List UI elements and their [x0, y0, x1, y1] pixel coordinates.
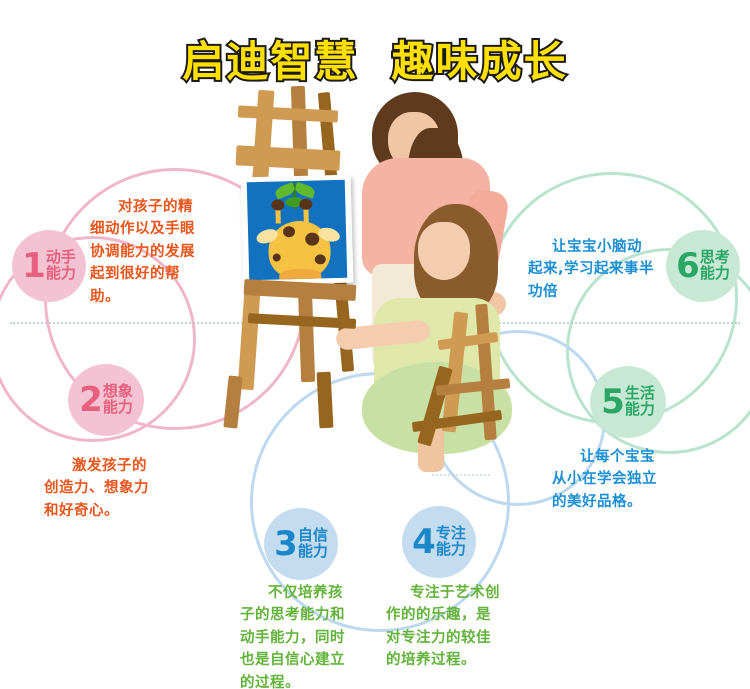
benefit-label-5: 生活 能力: [625, 386, 655, 418]
benefit-bubble-3[interactable]: 3 自信 能力: [264, 508, 338, 580]
page-title: 启迪智慧 趣味成长: [0, 28, 750, 89]
hero-photo: [222, 86, 532, 426]
benefit-description-3: 不仅培养孩 子的思考能力和 动手能力，同时 也是自信心建立 的过程。: [240, 582, 386, 689]
easel-foot-left: [223, 375, 242, 428]
benefit-label-4: 专注 能力: [436, 526, 466, 558]
benefit-label-3: 自信 能力: [298, 528, 328, 560]
dotted-line-center: [432, 474, 490, 476]
benefit-number-1: 1: [22, 251, 45, 282]
benefit-bubble-2[interactable]: 2 想象 能力: [68, 364, 144, 436]
benefit-label-1: 动手 能力: [46, 250, 76, 282]
benefit-bubble-5[interactable]: 5 生活 能力: [590, 366, 666, 438]
benefit-label-6: 思考 能力: [700, 250, 730, 282]
poster-canvas: 启迪智慧 趣味成长: [0, 0, 750, 689]
benefit-description-4: 专注于艺术创 作的的乐趣，是 对专注力的较佳 的培养过程。: [386, 582, 538, 672]
canvas-board: [241, 175, 354, 286]
benefit-number-2: 2: [79, 385, 102, 416]
benefit-bubble-1[interactable]: 1 动手 能力: [12, 230, 86, 302]
easel-foot-right: [317, 372, 334, 429]
benefit-number-5: 5: [601, 387, 624, 418]
benefit-description-1: 对孩子的精 细动作以及手眼 协调能力的发展 起到很好的帮 助。: [90, 196, 236, 308]
giraffe-muzzle: [279, 268, 321, 280]
benefit-label-2: 想象 能力: [103, 384, 133, 416]
benefit-bubble-4[interactable]: 4 专注 能力: [402, 506, 476, 578]
giraffe-horn-knob-right: [299, 199, 312, 210]
giraffe-horn-knob-left: [271, 199, 284, 210]
benefit-description-2: 激发孩子的 创造力、想象力 和好奇心。: [44, 455, 204, 522]
giraffe-painting: [247, 180, 348, 281]
leaf-right: [294, 182, 316, 199]
benefit-description-5: 让每个宝宝 从小在学会独立 的美好品格。: [552, 446, 704, 513]
child-face: [418, 222, 470, 280]
benefit-description-6: 让宝宝小脑动 起来,学习起来事半 功倍: [528, 236, 680, 303]
benefit-number-4: 4: [412, 527, 435, 558]
easel-crossbar-upper: [236, 145, 341, 170]
benefit-number-3: 3: [274, 529, 297, 560]
